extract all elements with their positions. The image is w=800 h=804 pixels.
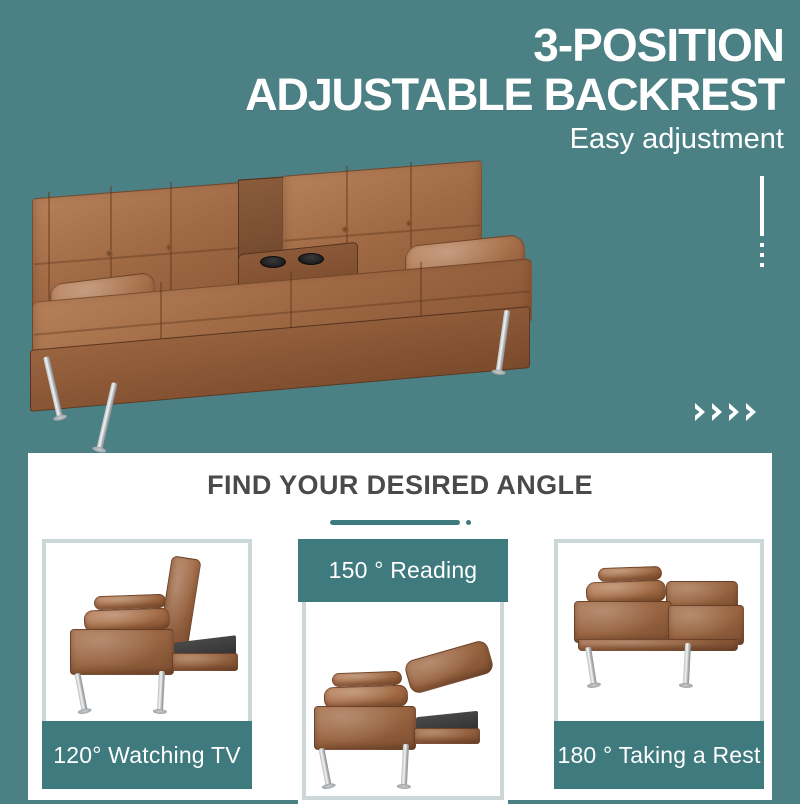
chevron-right-icon-2 (711, 402, 724, 422)
headline-subtitle: Easy adjustment (245, 125, 784, 154)
cup-holder-left (260, 256, 286, 268)
dot-3 (760, 263, 764, 267)
angle-label-120: 120° Watching TV (42, 721, 252, 789)
headline-line-2: ADJUSTABLE BACKREST (245, 72, 784, 117)
chevron-right-icon-1 (694, 402, 707, 422)
headline-line-1: 3-POSITION (245, 22, 784, 68)
title-underline-dot (466, 520, 471, 525)
dots-decoration (760, 243, 764, 273)
dot-2 (760, 253, 764, 257)
vertical-rule-decoration (760, 176, 764, 236)
angle-card-120[interactable]: 120° Watching TV (42, 539, 252, 789)
angle-card-180[interactable]: 180 ° Taking a Rest (554, 539, 764, 789)
dot-1 (760, 243, 764, 247)
angle-label-150: 150 ° Reading (298, 539, 508, 602)
angle-image-120 (46, 543, 248, 721)
angle-image-180 (558, 543, 760, 721)
hero-headline: 3-POSITION ADJUSTABLE BACKREST Easy adju… (245, 22, 784, 154)
cup-holder-right (298, 253, 324, 265)
title-underline (330, 520, 460, 525)
angle-card-150[interactable]: 150 ° Reading (298, 539, 508, 804)
angle-panel: FIND YOUR DESIRED ANGLE 120° Watching TV (28, 453, 772, 800)
panel-title: FIND YOUR DESIRED ANGLE (28, 470, 772, 501)
hero-product-image (10, 160, 570, 450)
chevron-right-icon-4 (745, 402, 758, 422)
angle-label-180: 180 ° Taking a Rest (554, 721, 764, 789)
chevron-right-icon-3 (728, 402, 741, 422)
chevron-arrows-decoration (694, 402, 758, 422)
angle-image-150 (302, 602, 504, 800)
